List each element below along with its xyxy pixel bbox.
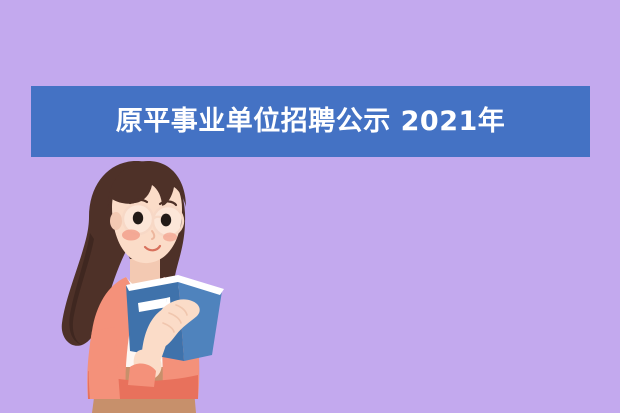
banner-title-text: 原平事业单位招聘公示 2021年 (116, 108, 506, 135)
ear-shape (110, 212, 122, 230)
eye-left-shape (133, 212, 143, 225)
sleeve-cuff-shape (128, 364, 156, 387)
woman-reading-book-illustration (34, 155, 234, 413)
title-banner: 原平事业单位招聘公示 2021年 (31, 86, 590, 157)
cheek-left-shape (122, 230, 140, 241)
cheek-right-shape (163, 233, 177, 242)
arm-left-shape (89, 327, 120, 399)
image-canvas: 原平事业单位招聘公示 2021年 (0, 0, 620, 413)
eye-right-shape (161, 214, 171, 227)
